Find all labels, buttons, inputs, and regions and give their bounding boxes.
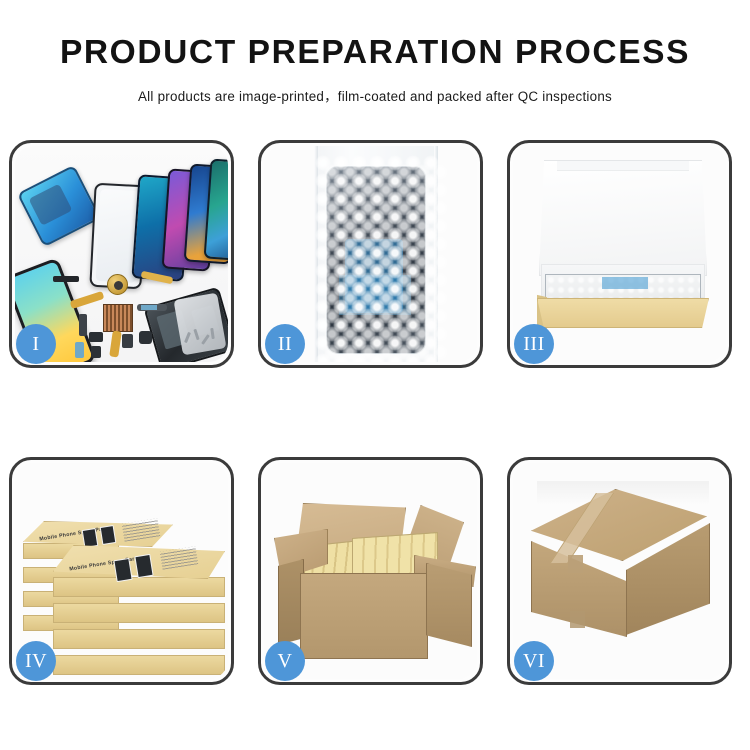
flex-cable-4-icon <box>109 331 122 358</box>
box-stack-icon: Mobile Phone Spare Parts Mobile Phone Sp… <box>23 481 228 671</box>
step-badge-5: V <box>265 641 305 681</box>
carton-tape-lower-icon <box>570 611 585 628</box>
part-blue-icon <box>75 342 84 358</box>
part-bar-icon <box>53 276 79 282</box>
blue-screen-assembly-icon <box>17 165 101 248</box>
header: PRODUCT PREPARATION PROCESS All products… <box>0 0 750 128</box>
kraft-box-base-icon <box>537 298 709 328</box>
step-panel-3[interactable]: III <box>507 140 732 368</box>
carton-tape-upper-icon <box>568 555 583 573</box>
box-phone-image-1 <box>82 528 99 548</box>
step-badge-1: I <box>16 324 56 364</box>
step-badge-3: III <box>514 324 554 364</box>
part-strip-icon <box>79 314 87 336</box>
bubble-texture-overlay-icon <box>323 163 447 362</box>
chip-grid-icon <box>103 304 133 332</box>
box-lid-icon <box>539 160 707 276</box>
step-panel-6[interactable]: VI <box>507 457 732 685</box>
carton-front-face-icon <box>300 573 428 659</box>
part-square-icon <box>139 331 152 344</box>
part-block-icon <box>89 332 103 342</box>
copper-coil-icon <box>107 274 128 295</box>
steps-grid: I II III <box>9 140 741 685</box>
page-title: PRODUCT PREPARATION PROCESS <box>60 34 690 72</box>
part-small-icon <box>122 334 133 348</box>
part-dark-icon <box>91 346 101 358</box>
flex-cable-3-icon <box>137 304 167 311</box>
step-badge-4: IV <box>16 641 56 681</box>
step-badge-2: II <box>265 324 305 364</box>
product-preparation-infographic: PRODUCT PREPARATION PROCESS All products… <box>0 0 750 750</box>
box-phone-image-2 <box>100 525 117 545</box>
box-phone-image-4 <box>134 554 153 578</box>
step-badge-6: VI <box>514 641 554 681</box>
step-panel-1[interactable]: I <box>9 140 234 368</box>
flex-cable-1-icon <box>70 291 105 309</box>
page-subtitle: All products are image-printed，film-coat… <box>138 85 612 105</box>
screws-icon <box>184 328 218 350</box>
step-panel-4[interactable]: Mobile Phone Spare Parts Mobile Phone Sp… <box>9 457 234 685</box>
step-panel-2[interactable]: II <box>258 140 483 368</box>
carton-right-face-icon <box>426 563 472 647</box>
step-panel-5[interactable]: V <box>258 457 483 685</box>
box-phone-image-3 <box>113 558 132 582</box>
